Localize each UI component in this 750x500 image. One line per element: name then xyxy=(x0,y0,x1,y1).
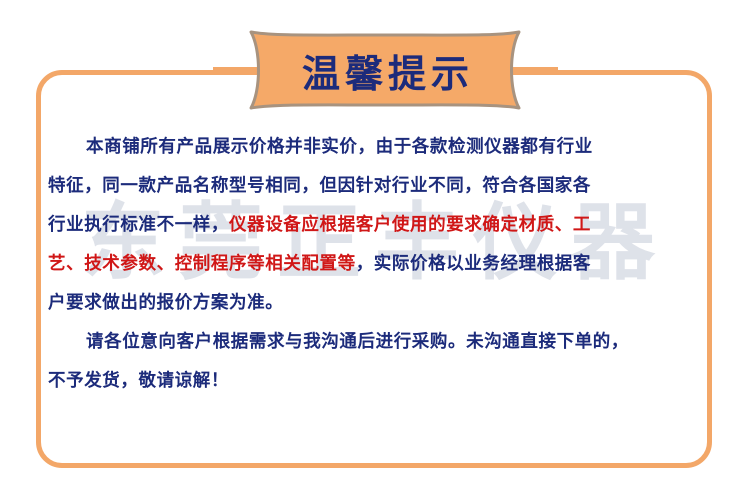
banner-title: 温馨提示 xyxy=(213,26,558,114)
body-text: 不予发货，敬请谅解！ xyxy=(48,371,229,391)
notice-page: 东莞正丰仪器 温馨提示 本商铺所有产品展示价格并非实价，由于各款检测仪器都有行业… xyxy=(0,0,750,500)
text-line: 本商铺所有产品展示价格并非实价，由于各款检测仪器都有行业 xyxy=(48,128,700,167)
body-text: ，实际价格以业务经理根据客 xyxy=(356,254,591,274)
paragraph-1: 本商铺所有产品展示价格并非实价，由于各款检测仪器都有行业特征，同一款产品名称型号… xyxy=(48,128,700,323)
body-text: 请各位意向客户根据需求与我沟通后进行采购。未沟通直接下单的， xyxy=(86,332,629,352)
notice-body: 本商铺所有产品展示价格并非实价，由于各款检测仪器都有行业特征，同一款产品名称型号… xyxy=(36,128,712,401)
text-line: 特征，同一款产品名称型号相同，但因针对行业不同，符合各国家各 xyxy=(48,167,700,206)
text-line: 艺、技术参数、控制程序等相关配置等，实际价格以业务经理根据客 xyxy=(48,245,700,284)
body-text: 户要求做出的报价方案为准。 xyxy=(48,293,283,313)
body-text: 特征，同一款产品名称型号相同，但因针对行业不同，符合各国家各 xyxy=(48,176,591,196)
highlight-text: 艺、技术参数、控制程序等相关配置等 xyxy=(48,254,356,274)
text-line: 不予发货，敬请谅解！ xyxy=(48,362,700,401)
body-text: 本商铺所有产品展示价格并非实价，由于各款检测仪器都有行业 xyxy=(86,137,593,157)
body-text: 行业执行标准不一样， xyxy=(48,215,229,235)
text-line: 户要求做出的报价方案为准。 xyxy=(48,284,700,323)
banner-ribbon: 温馨提示 xyxy=(213,26,558,114)
paragraph-2: 请各位意向客户根据需求与我沟通后进行采购。未沟通直接下单的，不予发货，敬请谅解！ xyxy=(48,323,700,401)
text-line: 请各位意向客户根据需求与我沟通后进行采购。未沟通直接下单的， xyxy=(48,323,700,362)
highlight-text: 仪器设备应根据客户使用的要求确定材质、工 xyxy=(229,215,591,235)
text-line: 行业执行标准不一样，仪器设备应根据客户使用的要求确定材质、工 xyxy=(48,206,700,245)
